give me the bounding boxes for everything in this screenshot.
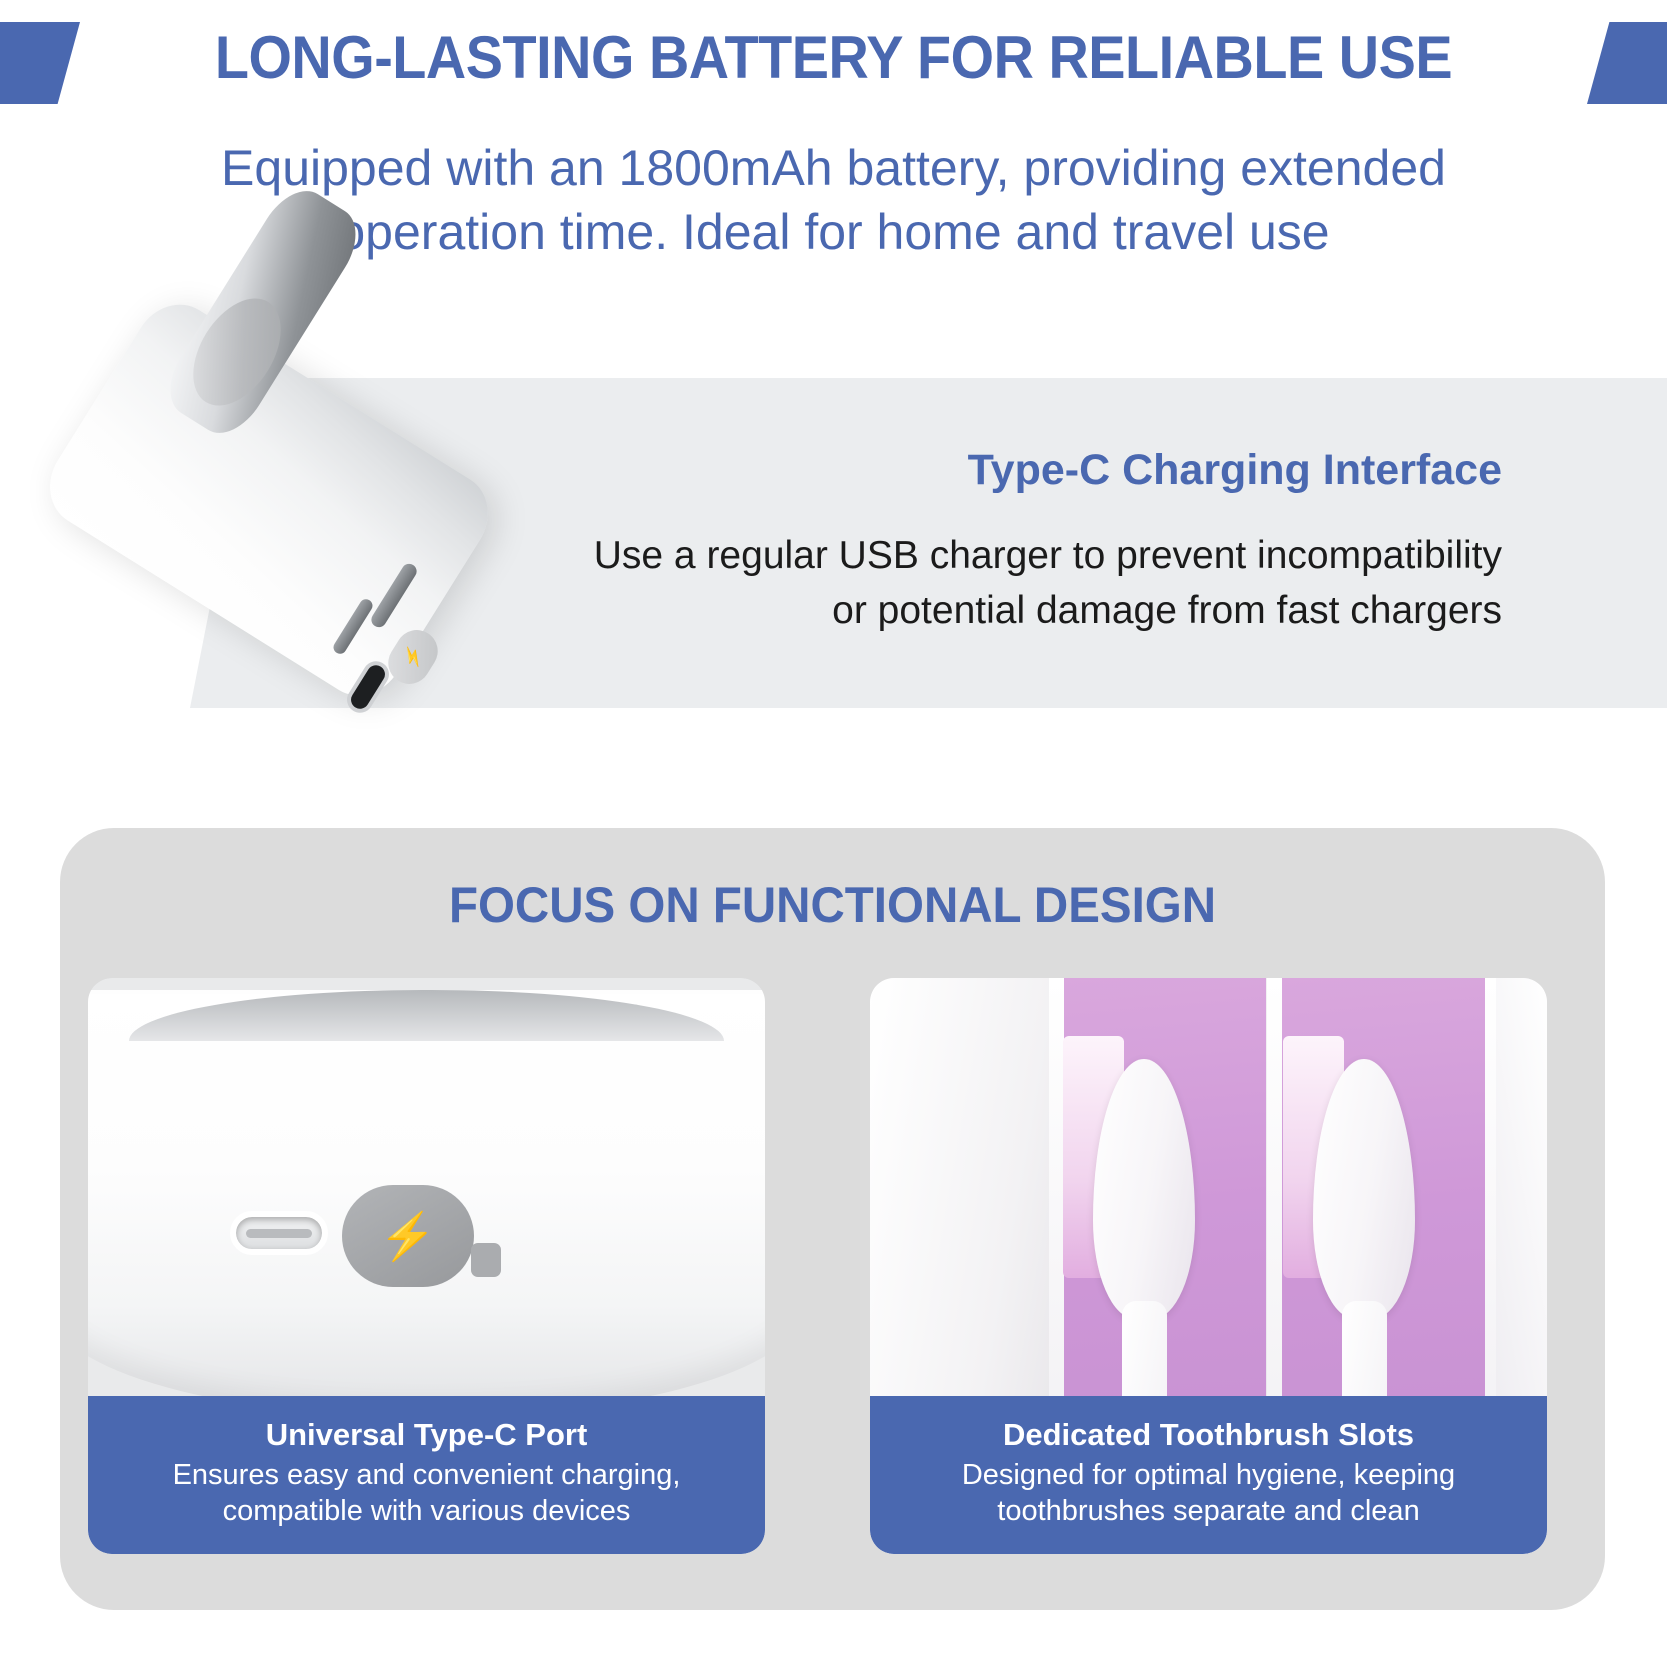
card-caption: Universal Type-C Port Ensures easy and c…: [88, 1396, 765, 1554]
functional-design-panel: FOCUS ON FUNCTIONAL DESIGN ⚡ Universal T…: [60, 828, 1605, 1610]
toothbrush-head: [1093, 1059, 1195, 1320]
feature-band-body: Use a regular USB charger to prevent inc…: [552, 528, 1502, 639]
card-caption: Dedicated Toothbrush Slots Designed for …: [870, 1396, 1547, 1554]
card-caption-title: Dedicated Toothbrush Slots: [894, 1416, 1523, 1453]
feature-band-title: Type-C Charging Interface: [968, 446, 1502, 495]
flap-tab: [471, 1243, 501, 1277]
card-caption-description: Designed for optimal hygiene, keeping to…: [894, 1457, 1523, 1530]
usb-c-port-icon: [230, 1211, 328, 1255]
card-caption-description: Ensures easy and convenient charging, co…: [112, 1457, 741, 1530]
toothbrush-head: [1313, 1059, 1415, 1320]
hero-product-image: ⚡: [40, 270, 560, 750]
charging-bolt-icon: ⚡: [379, 1213, 436, 1259]
header: LONG-LASTING BATTERY FOR RELIABLE USE: [0, 0, 1667, 125]
feature-card-toothbrush-slots[interactable]: Dedicated Toothbrush Slots Designed for …: [870, 978, 1547, 1554]
charging-flap: ⚡: [342, 1185, 474, 1287]
panel-title: FOCUS ON FUNCTIONAL DESIGN: [99, 876, 1567, 934]
charging-bolt-icon: ⚡: [399, 643, 426, 672]
feature-card-type-c-port[interactable]: ⚡ Universal Type-C Port Ensures easy and…: [88, 978, 765, 1554]
card-caption-title: Universal Type-C Port: [112, 1416, 741, 1453]
page-title: LONG-LASTING BATTERY FOR RELIABLE USE: [58, 26, 1608, 89]
infographic-page: LONG-LASTING BATTERY FOR RELIABLE USE Eq…: [0, 0, 1667, 1667]
